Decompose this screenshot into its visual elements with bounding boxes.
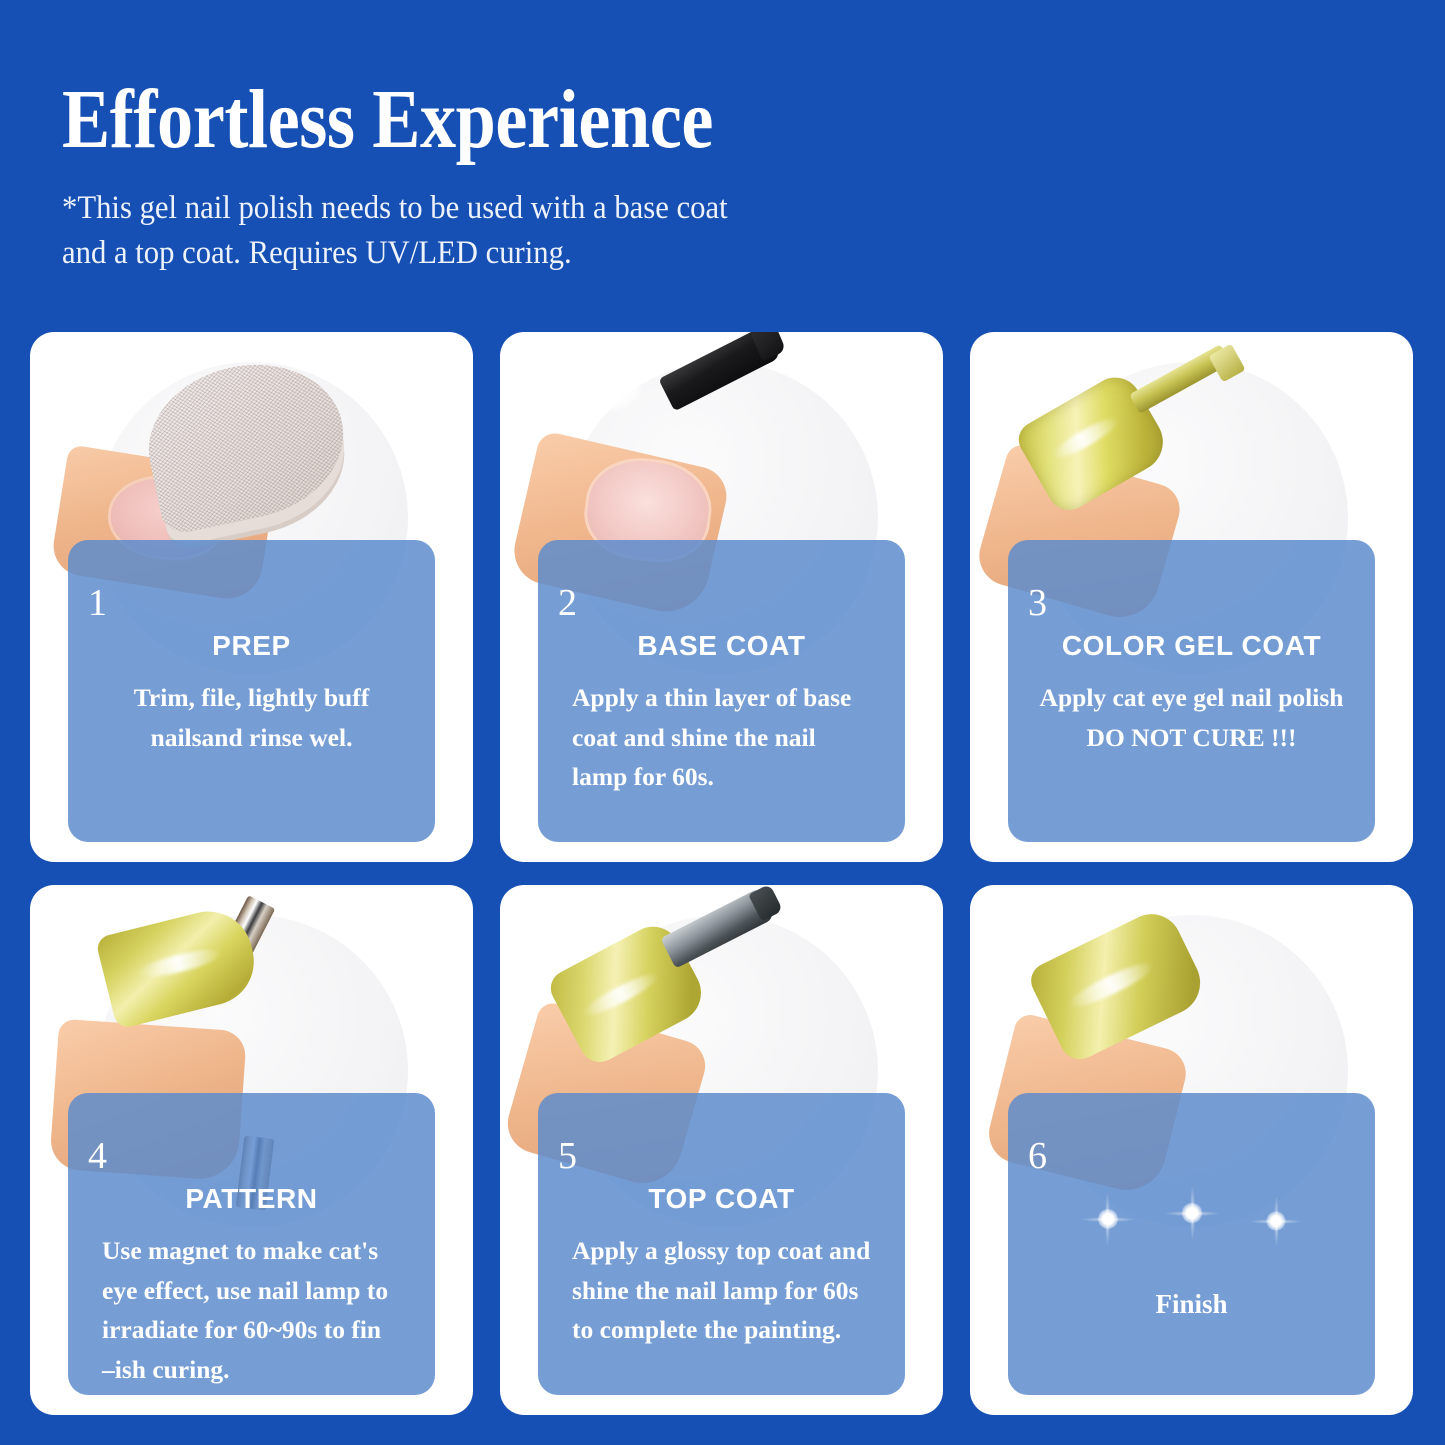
sparkle-core: [1266, 1211, 1285, 1230]
step-card-1[interactable]: 1 PREP Trim, file, lightly buff nailsand…: [30, 332, 473, 862]
step-body: Apply a glossy top coat and shine the na…: [572, 1231, 877, 1350]
page-subtitle: *This gel nail polish needs to be used w…: [62, 186, 1299, 276]
step-5-panel: 5 TOP COAT Apply a glossy top coat and s…: [538, 1093, 905, 1395]
finish-label: Finish: [1008, 1289, 1375, 1320]
step-3-panel: 3 COLOR GEL COAT Apply cat eye gel nail …: [1008, 540, 1375, 842]
sparkle-icon: [1069, 1180, 1147, 1258]
step-card-5[interactable]: 5 TOP COAT Apply a glossy top coat and s…: [500, 885, 943, 1415]
step-4-panel: 4 PATTERN Use magnet to make cat's eye e…: [68, 1093, 435, 1395]
step-body: Trim, file, lightly buff nailsand rinse …: [88, 678, 415, 757]
sparkle-core: [1181, 1203, 1201, 1223]
page-title: Effortless Experience: [62, 78, 1206, 162]
step-card-6[interactable]: 6 Finish: [970, 885, 1413, 1415]
step-body: Use magnet to make cat's eye effect, use…: [102, 1231, 407, 1389]
step-title: PATTERN: [68, 1183, 435, 1215]
step-number: 3: [1028, 584, 1047, 622]
sparkle-core: [1098, 1209, 1118, 1229]
page-header: Effortless Experience *This gel nail pol…: [62, 78, 1392, 276]
step-2-panel: 2 BASE COAT Apply a thin layer of base c…: [538, 540, 905, 842]
step-number: 6: [1028, 1137, 1047, 1175]
step-card-4[interactable]: 4 PATTERN Use magnet to make cat's eye e…: [30, 885, 473, 1415]
step-number: 2: [558, 584, 577, 622]
sparkle-icon: [1238, 1184, 1313, 1259]
step-title: TOP COAT: [538, 1183, 905, 1215]
step-title: COLOR GEL COAT: [1008, 630, 1375, 662]
steps-grid: 1 PREP Trim, file, lightly buff nailsand…: [30, 332, 1415, 1415]
step-1-panel: 1 PREP Trim, file, lightly buff nailsand…: [68, 540, 435, 842]
step-body: Apply a thin layer of base coat and shin…: [572, 678, 877, 797]
sparkle-icon: [1152, 1173, 1232, 1253]
step-title: BASE COAT: [538, 630, 905, 662]
step-body: Apply cat eye gel nail polish DO NOT CUR…: [1028, 678, 1355, 757]
step-number: 4: [88, 1137, 107, 1175]
step-6-panel: 6 Finish: [1008, 1093, 1375, 1395]
step-card-2[interactable]: 2 BASE COAT Apply a thin layer of base c…: [500, 332, 943, 862]
step-title: PREP: [68, 630, 435, 662]
step-number: 1: [88, 584, 107, 622]
step-card-3[interactable]: 3 COLOR GEL COAT Apply cat eye gel nail …: [970, 332, 1413, 862]
sparkle-group: [1008, 1171, 1375, 1267]
step-number: 5: [558, 1137, 577, 1175]
